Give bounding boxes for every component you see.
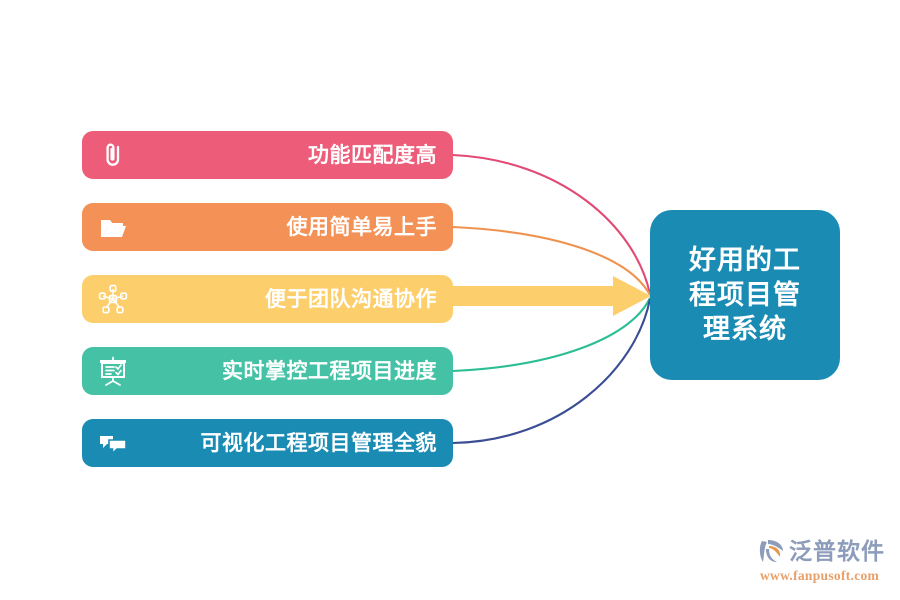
chat-bubbles-icon xyxy=(96,426,130,460)
logo-url-text: www.fanpusoft.com xyxy=(760,568,879,584)
folder-icon xyxy=(96,210,130,244)
feature-bar-1[interactable]: 功能匹配度高 xyxy=(82,131,453,179)
feature-bar-5-label: 可视化工程项目管理全貌 xyxy=(201,433,438,454)
feature-bar-5[interactable]: 可视化工程项目管理全貌 xyxy=(82,419,453,467)
presentation-board-icon xyxy=(96,354,130,388)
feature-bar-2[interactable]: 使用简单易上手 xyxy=(82,203,453,251)
feature-bar-2-label: 使用简单易上手 xyxy=(287,217,438,238)
target-system-box[interactable]: 好用的工 程项目管 理系统 xyxy=(650,210,840,380)
target-system-title: 好用的工 程项目管 理系统 xyxy=(670,243,820,347)
target-title-line-1: 好用的工 xyxy=(670,243,820,278)
paperclip-icon xyxy=(96,138,130,172)
feature-bar-4-label: 实时掌控工程项目进度 xyxy=(222,361,437,382)
fanpu-logo-mark-icon xyxy=(758,537,788,565)
connector-curve-1 xyxy=(453,155,650,294)
connector-arrow-3 xyxy=(453,276,651,316)
network-hub-icon xyxy=(96,282,130,316)
target-title-line-2: 程项目管 xyxy=(670,278,820,313)
feature-bar-3[interactable]: 便于团队沟通协作 xyxy=(82,275,453,323)
target-title-line-3: 理系统 xyxy=(670,312,820,347)
feature-bar-4[interactable]: 实时掌控工程项目进度 xyxy=(82,347,453,395)
logo-name-text: 泛普软件 xyxy=(789,540,885,563)
connector-curve-5 xyxy=(453,299,650,443)
feature-bar-1-label: 功能匹配度高 xyxy=(308,145,437,166)
logo-row: 泛普软件 xyxy=(758,536,885,566)
feature-bar-3-label: 便于团队沟通协作 xyxy=(265,289,437,310)
fanpusoft-logo: 泛普软件 www.fanpusoft.com xyxy=(758,536,894,586)
infographic-canvas: 功能匹配度高 使用简单易上手 xyxy=(0,0,900,600)
